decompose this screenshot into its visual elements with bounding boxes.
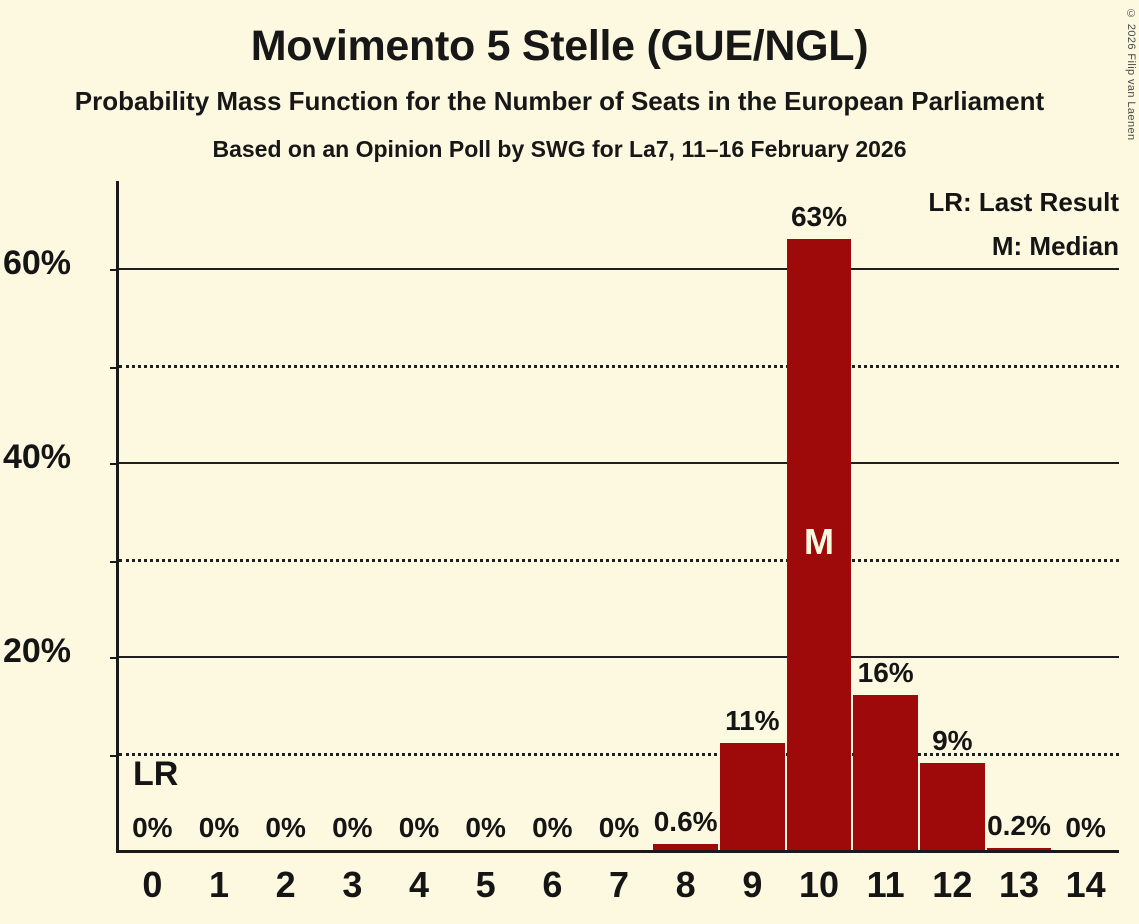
chart-source-note: Based on an Opinion Poll by SWG for La7,… [0, 136, 1119, 163]
bar-value-label-9: 11% [708, 705, 797, 737]
x-axis-label-5: 5 [452, 864, 519, 906]
page-title: Movimento 5 Stelle (GUE/NGL) [0, 22, 1119, 71]
copyright-notice: © 2026 Filip van Laenen [1125, 8, 1137, 141]
x-axis-label-14: 14 [1052, 864, 1119, 906]
x-axis-label-8: 8 [652, 864, 719, 906]
x-axis-label-7: 7 [586, 864, 653, 906]
bar-value-label-10: 63% [775, 201, 864, 233]
bar-value-label-12: 9% [908, 725, 997, 757]
median-marker: M [787, 521, 852, 563]
plot-area: 20%40%60% 0%0%0%0%0%0%0%0%0.6%11%63%M16%… [119, 181, 1119, 850]
gridline-30 [119, 559, 1119, 562]
x-axis-label-1: 1 [186, 864, 253, 906]
x-axis-label-0: 0 [119, 864, 186, 906]
bar-11[interactable] [853, 695, 918, 850]
legend-entry-last-result: LR: Last Result [928, 187, 1119, 218]
y-tick-50 [110, 367, 119, 369]
x-axis-label-4: 4 [386, 864, 453, 906]
x-axis-label-6: 6 [519, 864, 586, 906]
y-axis-label-60: 60% [0, 244, 71, 283]
gridline-50 [119, 365, 1119, 368]
y-tick-20 [110, 657, 119, 659]
y-axis-label-40: 40% [0, 438, 71, 477]
bar-value-label-11: 16% [841, 657, 930, 689]
x-axis-label-3: 3 [319, 864, 386, 906]
x-axis-label-12: 12 [919, 864, 986, 906]
bar-8[interactable] [653, 844, 718, 850]
y-axis-label-20: 20% [0, 632, 71, 671]
y-tick-60 [110, 269, 119, 271]
chart-root: Movimento 5 Stelle (GUE/NGL) Probability… [0, 0, 1139, 924]
x-axis-label-11: 11 [852, 864, 919, 906]
bar-9[interactable] [720, 743, 785, 850]
bar-value-label-14: 0% [1041, 812, 1130, 844]
y-tick-30 [110, 561, 119, 563]
gridline-40 [119, 462, 1119, 464]
bar-value-label-8: 0.6% [641, 806, 730, 838]
last-result-marker: LR [133, 755, 178, 794]
x-axis-label-9: 9 [719, 864, 786, 906]
x-axis-label-13: 13 [986, 864, 1053, 906]
gridline-20 [119, 656, 1119, 658]
bar-13[interactable] [987, 848, 1052, 850]
x-axis-line [116, 850, 1119, 853]
x-axis-label-2: 2 [252, 864, 319, 906]
y-tick-40 [110, 463, 119, 465]
legend-entry-median: M: Median [992, 231, 1119, 262]
gridline-60 [119, 268, 1119, 270]
x-axis-label-10: 10 [786, 864, 853, 906]
chart-subtitle: Probability Mass Function for the Number… [0, 86, 1119, 117]
y-tick-10 [110, 755, 119, 757]
